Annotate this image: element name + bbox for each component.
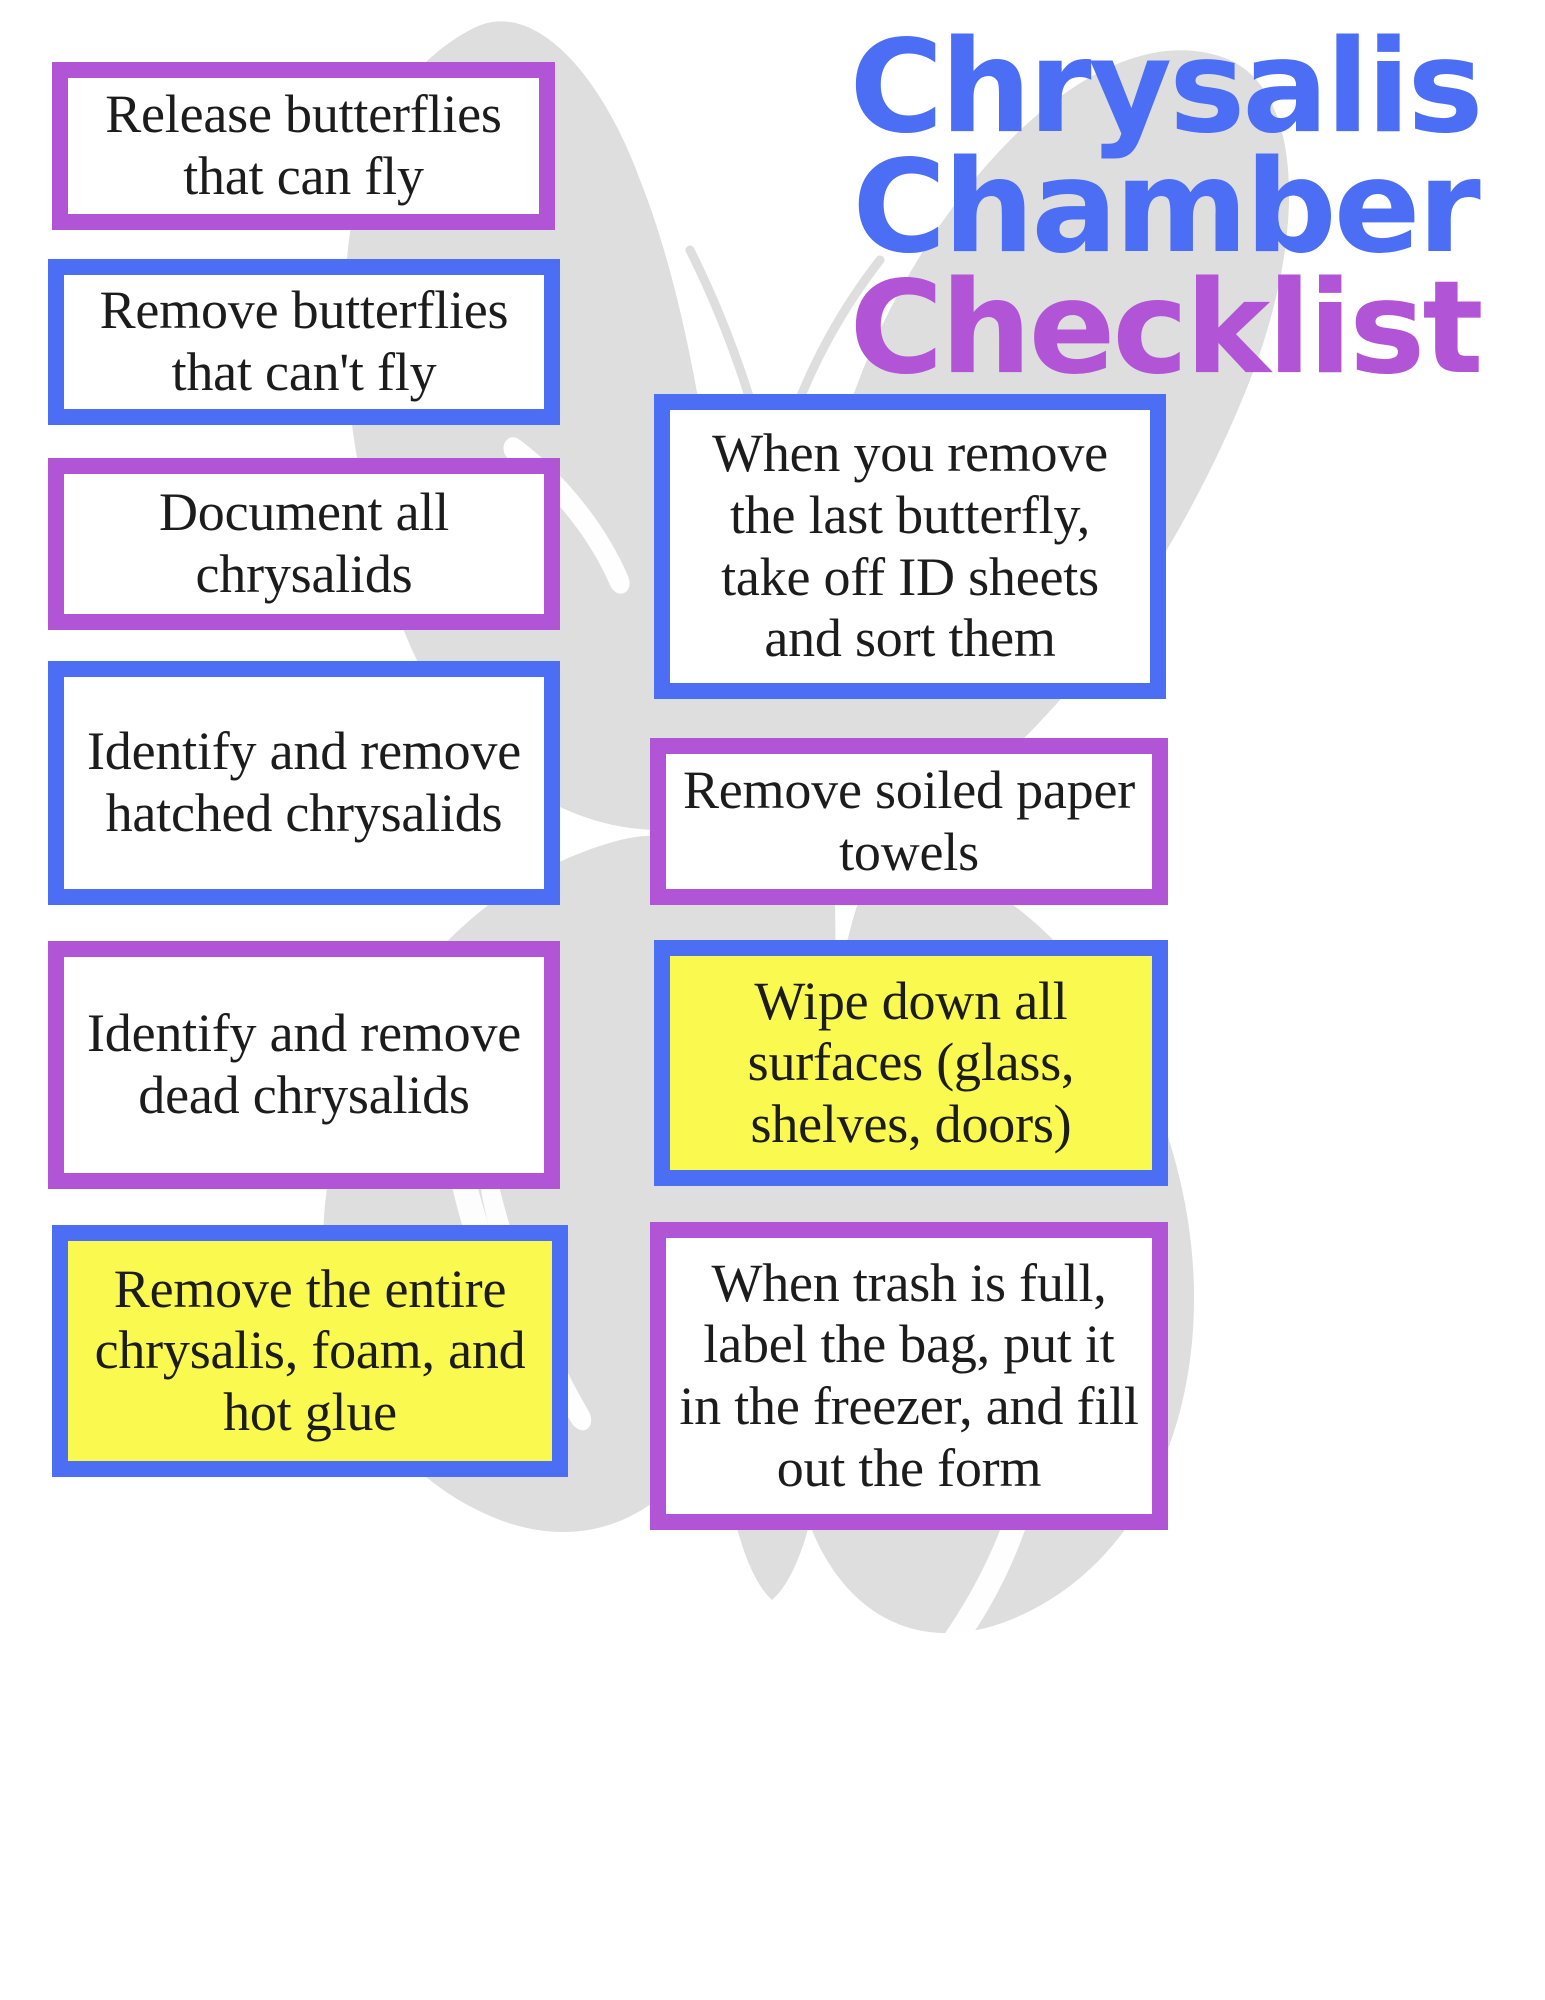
checklist-item-document-chrysalids[interactable]: Document all chrysalids (48, 458, 560, 630)
checklist-item-remove-butterflies[interactable]: Remove butterflies that can't fly (48, 259, 560, 425)
checklist-item-remove-chrysalis-foam[interactable]: Remove the entire chrysalis, foam, and h… (52, 1225, 568, 1477)
checklist-item-label: When trash is full, label the bag, put i… (666, 1249, 1152, 1503)
title-line-1: Chrysalis (795, 28, 1535, 148)
checklist-item-remove-dead[interactable]: Identify and remove dead chrysalids (48, 941, 560, 1189)
checklist-item-label: When you remove the last butterfly, take… (670, 419, 1150, 673)
checklist-item-trash-full[interactable]: When trash is full, label the bag, put i… (650, 1222, 1168, 1530)
checklist-item-label: Release butterflies that can fly (68, 80, 539, 211)
checklist-item-label: Remove the entire chrysalis, foam, and h… (68, 1255, 552, 1448)
checklist-item-label: Wipe down all surfaces (glass, shelves, … (670, 967, 1152, 1160)
checklist-item-label: Identify and remove hatched chrysalids (64, 717, 544, 848)
checklist-item-label: Identify and remove dead chrysalids (64, 999, 544, 1130)
poster-title: Chrysalis Chamber Checklist (795, 28, 1535, 389)
checklist-item-wipe-surfaces[interactable]: Wipe down all surfaces (glass, shelves, … (654, 940, 1168, 1186)
checklist-item-remove-hatched[interactable]: Identify and remove hatched chrysalids (48, 661, 560, 905)
checklist-item-label: Remove soiled paper towels (666, 756, 1152, 887)
title-line-2: Chamber (795, 148, 1535, 268)
checklist-item-remove-id-sheets[interactable]: When you remove the last butterfly, take… (654, 394, 1166, 699)
checklist-item-label: Remove butterflies that can't fly (64, 276, 544, 407)
checklist-item-remove-paper-towels[interactable]: Remove soiled paper towels (650, 738, 1168, 905)
title-line-3: Checklist (795, 269, 1535, 389)
checklist-item-release-butterflies[interactable]: Release butterflies that can fly (52, 62, 555, 230)
checklist-item-label: Document all chrysalids (64, 478, 544, 609)
